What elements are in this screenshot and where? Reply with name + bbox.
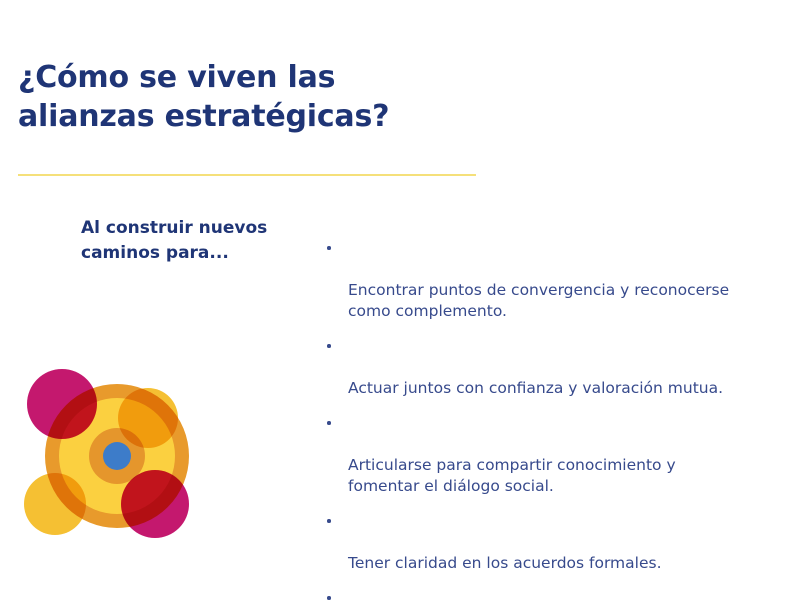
bullet-dot-icon [327, 246, 331, 250]
title-divider [18, 174, 476, 176]
list-item-text: Tener claridad en los acuerdos formales. [348, 554, 662, 572]
bullet-dot-icon [327, 596, 331, 600]
list-item: Tener claridad en los acuerdos formales. [322, 511, 800, 574]
subtitle-lead-in: Al construir nuevos caminos para... [81, 216, 326, 266]
list-item: Establecer redes de trabajo con retroali… [322, 588, 800, 600]
bullet-dot-icon [327, 421, 331, 425]
overlapping-circles-graphic-icon [14, 356, 224, 561]
list-item: Actuar juntos con confianza y valoración… [322, 336, 800, 399]
list-item: Articularse para compartir conocimiento … [322, 413, 800, 497]
presentation-slide: ¿Cómo se viven las alianzas estratégicas… [0, 0, 800, 600]
list-item-text: Actuar juntos con confianza y valoración… [348, 379, 723, 397]
bullet-list: Encontrar puntos de convergencia y recon… [322, 238, 800, 600]
page-title: ¿Cómo se viven las alianzas estratégicas… [18, 58, 538, 136]
list-item-text: Articularse para compartir conocimiento … [348, 456, 676, 495]
list-item-text: Encontrar puntos de convergencia y recon… [348, 281, 729, 320]
bullet-dot-icon [327, 519, 331, 523]
bullet-dot-icon [327, 344, 331, 348]
list-item: Encontrar puntos de convergencia y recon… [322, 238, 800, 322]
